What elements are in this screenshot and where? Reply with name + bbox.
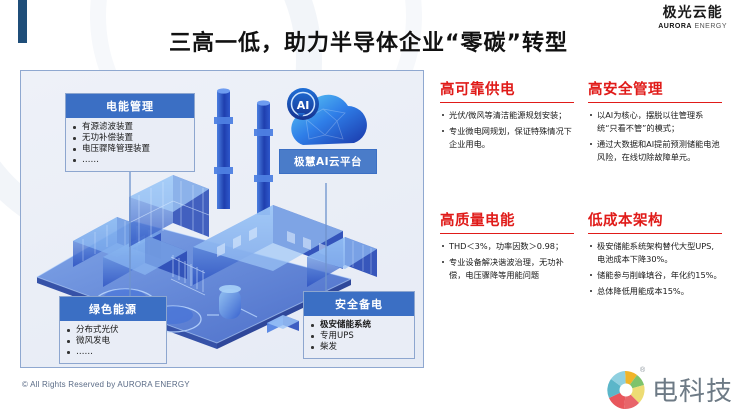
callout-backup-power[interactable]: 安全备电 极安储能系统 专用UPS 柴发	[303, 291, 415, 359]
feature-title: 低成本架构	[588, 209, 722, 234]
list-item: 极安储能系统	[320, 320, 410, 331]
list-item: 无功补偿装置	[82, 133, 190, 144]
slide-canvas: 极光云能 AURORA ENERGY 三高一低，助力半导体企业“零碳”转型	[0, 0, 737, 413]
callout-backup-power-header: 安全备电	[304, 292, 414, 316]
list-item: ……	[82, 155, 190, 166]
feature-title: 高安全管理	[588, 78, 722, 103]
list-item: 光伏/微风等清洁能源规划安装；	[449, 109, 574, 122]
list-item: 储能参与削峰填谷，年化约15%。	[597, 269, 722, 282]
feature-bullet-list: THD＜3%，功率因数＞0.98； 专业设备解决谐波治理，无功补偿，电压骤降等用…	[440, 240, 574, 282]
callout-power-management[interactable]: 电能管理 有源滤波装置 无功补偿装置 电压骤降管理装置 ……	[65, 93, 195, 172]
footer-copyright: © All Rights Reserved by AURORA ENERGY	[22, 380, 190, 389]
feature-bullet-list: 以AI为核心，摆脱以往管理系统“只看不管”的模式； 通过大数据和AI提前预测储能…	[588, 109, 722, 164]
list-item: ……	[76, 347, 162, 358]
feature-bullet-list: 极安储能系统架构替代大型UPS,电池成本下降30%。 储能参与削峰填谷，年化约1…	[588, 240, 722, 298]
feature-block-reliable-power: 高可靠供电 光伏/微风等清洁能源规划安装； 专业微电网规划，保证特殊情况下企业用…	[440, 78, 574, 154]
brand-logo-cn: 极光云能	[658, 6, 727, 20]
list-item: 柴发	[320, 342, 410, 353]
list-item: 微风发电	[76, 336, 162, 347]
list-item: 电压骤降管理装置	[82, 144, 190, 155]
watermark-text: 电科技	[652, 371, 733, 408]
factory-illustration: 半导体工厂	[21, 71, 423, 367]
feature-block-low-cost-architecture: 低成本架构 极安储能系统架构替代大型UPS,电池成本下降30%。 储能参与削峰填…	[588, 209, 722, 301]
diagram-panel: 半导体工厂	[20, 70, 424, 368]
callout-power-management-header: 电能管理	[66, 94, 194, 118]
callout-green-energy-header: 绿色能源	[60, 297, 166, 321]
watermark-logo: ® 电科技	[604, 367, 733, 411]
list-item: 通过大数据和AI提前预测储能电池风险，在线切除故障单元。	[597, 138, 722, 164]
list-item: 有源滤波装置	[82, 122, 190, 133]
list-item: 专用UPS	[320, 331, 410, 342]
callout-backup-power-list: 极安储能系统 专用UPS 柴发	[304, 316, 414, 358]
list-item: 专业设备解决谐波治理，无功补偿，电压骤降等用能问题	[449, 256, 574, 282]
list-item: 总体降低用能成本15%。	[597, 285, 722, 298]
chimney-stacks	[214, 88, 273, 215]
feature-block-quality-power: 高质量电能 THD＜3%，功率因数＞0.98； 专业设备解决谐波治理，无功补偿，…	[440, 209, 574, 285]
callout-green-energy[interactable]: 绿色能源 分布式光伏 微风发电 ……	[59, 296, 167, 364]
feature-title: 高质量电能	[440, 209, 574, 234]
list-item: 分布式光伏	[76, 325, 162, 336]
feature-title: 高可靠供电	[440, 78, 574, 103]
feature-bullet-list: 光伏/微风等清洁能源规划安装； 专业微电网规划，保证特殊情况下企业用电。	[440, 109, 574, 151]
svg-text:AI: AI	[297, 99, 310, 112]
callout-green-energy-list: 分布式光伏 微风发电 ……	[60, 321, 166, 363]
registered-mark: ®	[640, 367, 645, 374]
list-item: 专业微电网规划，保证特殊情况下企业用电。	[449, 125, 574, 151]
list-item: THD＜3%，功率因数＞0.98；	[449, 240, 574, 253]
list-item: 极安储能系统架构替代大型UPS,电池成本下降30%。	[597, 240, 722, 266]
list-item: 以AI为核心，摆脱以往管理系统“只看不管”的模式；	[597, 109, 722, 135]
callout-power-management-list: 有源滤波装置 无功补偿装置 电压骤降管理装置 ……	[66, 118, 194, 171]
feature-block-safety-management: 高安全管理 以AI为核心，摆脱以往管理系统“只看不管”的模式； 通过大数据和AI…	[588, 78, 722, 167]
ai-cloud-platform-label: 极慧AI云平台	[279, 149, 377, 174]
page-title: 三高一低，助力半导体企业“零碳”转型	[0, 25, 737, 57]
